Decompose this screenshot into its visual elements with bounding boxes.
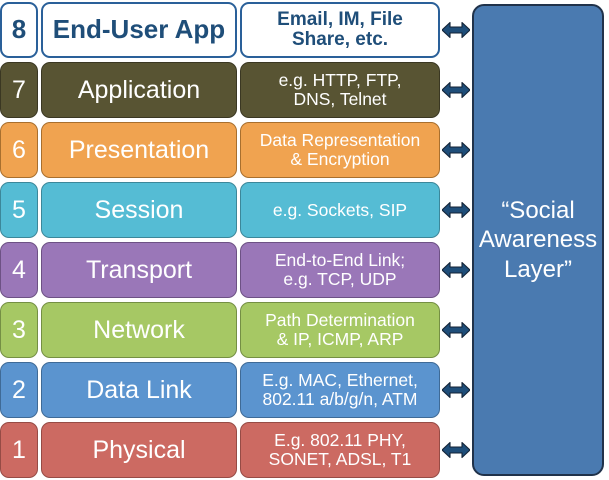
layer-row-6[interactable]: 6PresentationData Representation & Encry… <box>0 122 440 178</box>
layer-name-3: Network <box>41 302 237 358</box>
layer-row-1[interactable]: 1PhysicalE.g. 802.11 PHY, SONET, ADSL, T… <box>0 422 440 478</box>
layer-description-1: E.g. 802.11 PHY, SONET, ADSL, T1 <box>240 422 440 478</box>
layer-row-4[interactable]: 4TransportEnd-to-End Link; e.g. TCP, UDP <box>0 242 440 298</box>
layer-row-7[interactable]: 7Applicatione.g. HTTP, FTP, DNS, Telnet <box>0 62 440 118</box>
layer-number-4: 4 <box>0 242 38 298</box>
layer-name-8: End-User App <box>41 2 237 58</box>
social-awareness-layer-panel: “Social Awareness Layer” <box>472 4 604 476</box>
double-headed-horizontal-arrow-icon <box>442 261 470 279</box>
layer-name-6: Presentation <box>41 122 237 178</box>
layer-description-5: e.g. Sockets, SIP <box>240 182 440 238</box>
arrow-slot-layer-6 <box>441 122 471 178</box>
arrow-slot-layer-5 <box>441 182 471 238</box>
layer-number-6: 6 <box>0 122 38 178</box>
arrow-slot-layer-2 <box>441 362 471 418</box>
layer-row-5[interactable]: 5Sessione.g. Sockets, SIP <box>0 182 440 238</box>
layer-number-5: 5 <box>0 182 38 238</box>
diagram-canvas: 8End-User AppEmail, IM, File Share, etc.… <box>0 0 609 480</box>
osi-layer-stack: 8End-User AppEmail, IM, File Share, etc.… <box>0 0 440 480</box>
arrow-slot-layer-4 <box>441 242 471 298</box>
double-headed-horizontal-arrow-icon <box>442 21 470 39</box>
double-headed-horizontal-arrow-icon <box>442 441 470 459</box>
social-awareness-layer-label: “Social Awareness Layer” <box>479 196 597 284</box>
layer-description-4: End-to-End Link; e.g. TCP, UDP <box>240 242 440 298</box>
layer-description-6: Data Representation & Encryption <box>240 122 440 178</box>
layer-number-3: 3 <box>0 302 38 358</box>
arrow-slot-layer-8 <box>441 2 471 58</box>
double-headed-horizontal-arrow-icon <box>442 201 470 219</box>
arrow-slot-layer-3 <box>441 302 471 358</box>
layer-number-2: 2 <box>0 362 38 418</box>
layer-number-7: 7 <box>0 62 38 118</box>
arrow-slot-layer-7 <box>441 62 471 118</box>
double-headed-horizontal-arrow-icon <box>442 81 470 99</box>
layer-row-8[interactable]: 8End-User AppEmail, IM, File Share, etc. <box>0 2 440 58</box>
layer-description-8: Email, IM, File Share, etc. <box>240 2 440 58</box>
arrow-slot-layer-1 <box>441 422 471 478</box>
layer-description-7: e.g. HTTP, FTP, DNS, Telnet <box>240 62 440 118</box>
layer-name-7: Application <box>41 62 237 118</box>
double-headed-horizontal-arrow-icon <box>442 381 470 399</box>
layer-description-3: Path Determination & IP, ICMP, ARP <box>240 302 440 358</box>
layer-name-5: Session <box>41 182 237 238</box>
double-headed-horizontal-arrow-icon <box>442 321 470 339</box>
layer-name-4: Transport <box>41 242 237 298</box>
layer-name-1: Physical <box>41 422 237 478</box>
double-headed-horizontal-arrow-icon <box>442 141 470 159</box>
layer-row-3[interactable]: 3NetworkPath Determination & IP, ICMP, A… <box>0 302 440 358</box>
layer-number-1: 1 <box>0 422 38 478</box>
layer-description-2: E.g. MAC, Ethernet, 802.11 a/b/g/n, ATM <box>240 362 440 418</box>
layer-row-2[interactable]: 2Data LinkE.g. MAC, Ethernet, 802.11 a/b… <box>0 362 440 418</box>
layer-name-2: Data Link <box>41 362 237 418</box>
layer-number-8: 8 <box>0 2 38 58</box>
